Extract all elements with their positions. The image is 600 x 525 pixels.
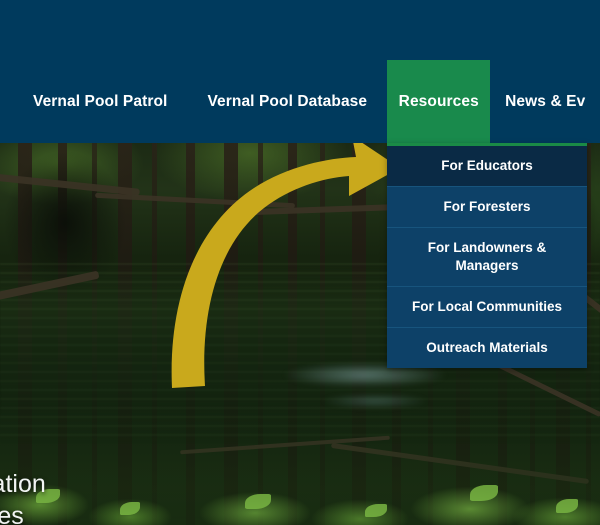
nav-item-label: Vernal Pool Patrol <box>33 93 167 111</box>
dropdown-item-for-local-communities[interactable]: For Local Communities <box>387 287 587 328</box>
nav-item-resources[interactable]: Resources <box>387 60 490 143</box>
dropdown-item-for-foresters[interactable]: For Foresters <box>387 187 587 228</box>
dropdown-item-for-educators[interactable]: For Educators <box>387 146 587 187</box>
resources-dropdown-menu: For Educators For Foresters For Landowne… <box>387 143 587 368</box>
nav-item-vernal-pool-database[interactable]: Vernal Pool Database <box>187 60 387 143</box>
hero-subtitle-line-1: conservation <box>0 468 46 502</box>
dropdown-item-label: For Educators <box>441 158 533 173</box>
dropdown-item-for-landowners-and-managers[interactable]: For Landowners & Managers <box>387 228 587 287</box>
hero-subtitle-line-2: measures <box>0 500 24 525</box>
nav-item-vernal-pool-patrol[interactable]: Vernal Pool Patrol <box>0 60 187 143</box>
nav-item-news-and-events[interactable]: News & Ev <box>490 60 600 143</box>
dropdown-item-label: For Landowners & Managers <box>428 240 547 273</box>
dropdown-item-label: Outreach Materials <box>426 340 548 355</box>
page-root: ON conservation measures Vernal Pool Pat… <box>0 0 600 525</box>
main-navigation: Vernal Pool Patrol Vernal Pool Database … <box>0 60 600 143</box>
dropdown-item-outreach-materials[interactable]: Outreach Materials <box>387 328 587 368</box>
dropdown-item-label: For Foresters <box>443 199 530 214</box>
dropdown-item-label: For Local Communities <box>412 299 562 314</box>
photo-undergrowth <box>0 405 600 525</box>
nav-item-label: Vernal Pool Database <box>207 93 367 111</box>
nav-item-label: Resources <box>399 93 479 111</box>
nav-item-label: News & Ev <box>505 93 585 111</box>
site-header: Vernal Pool Patrol Vernal Pool Database … <box>0 0 600 143</box>
